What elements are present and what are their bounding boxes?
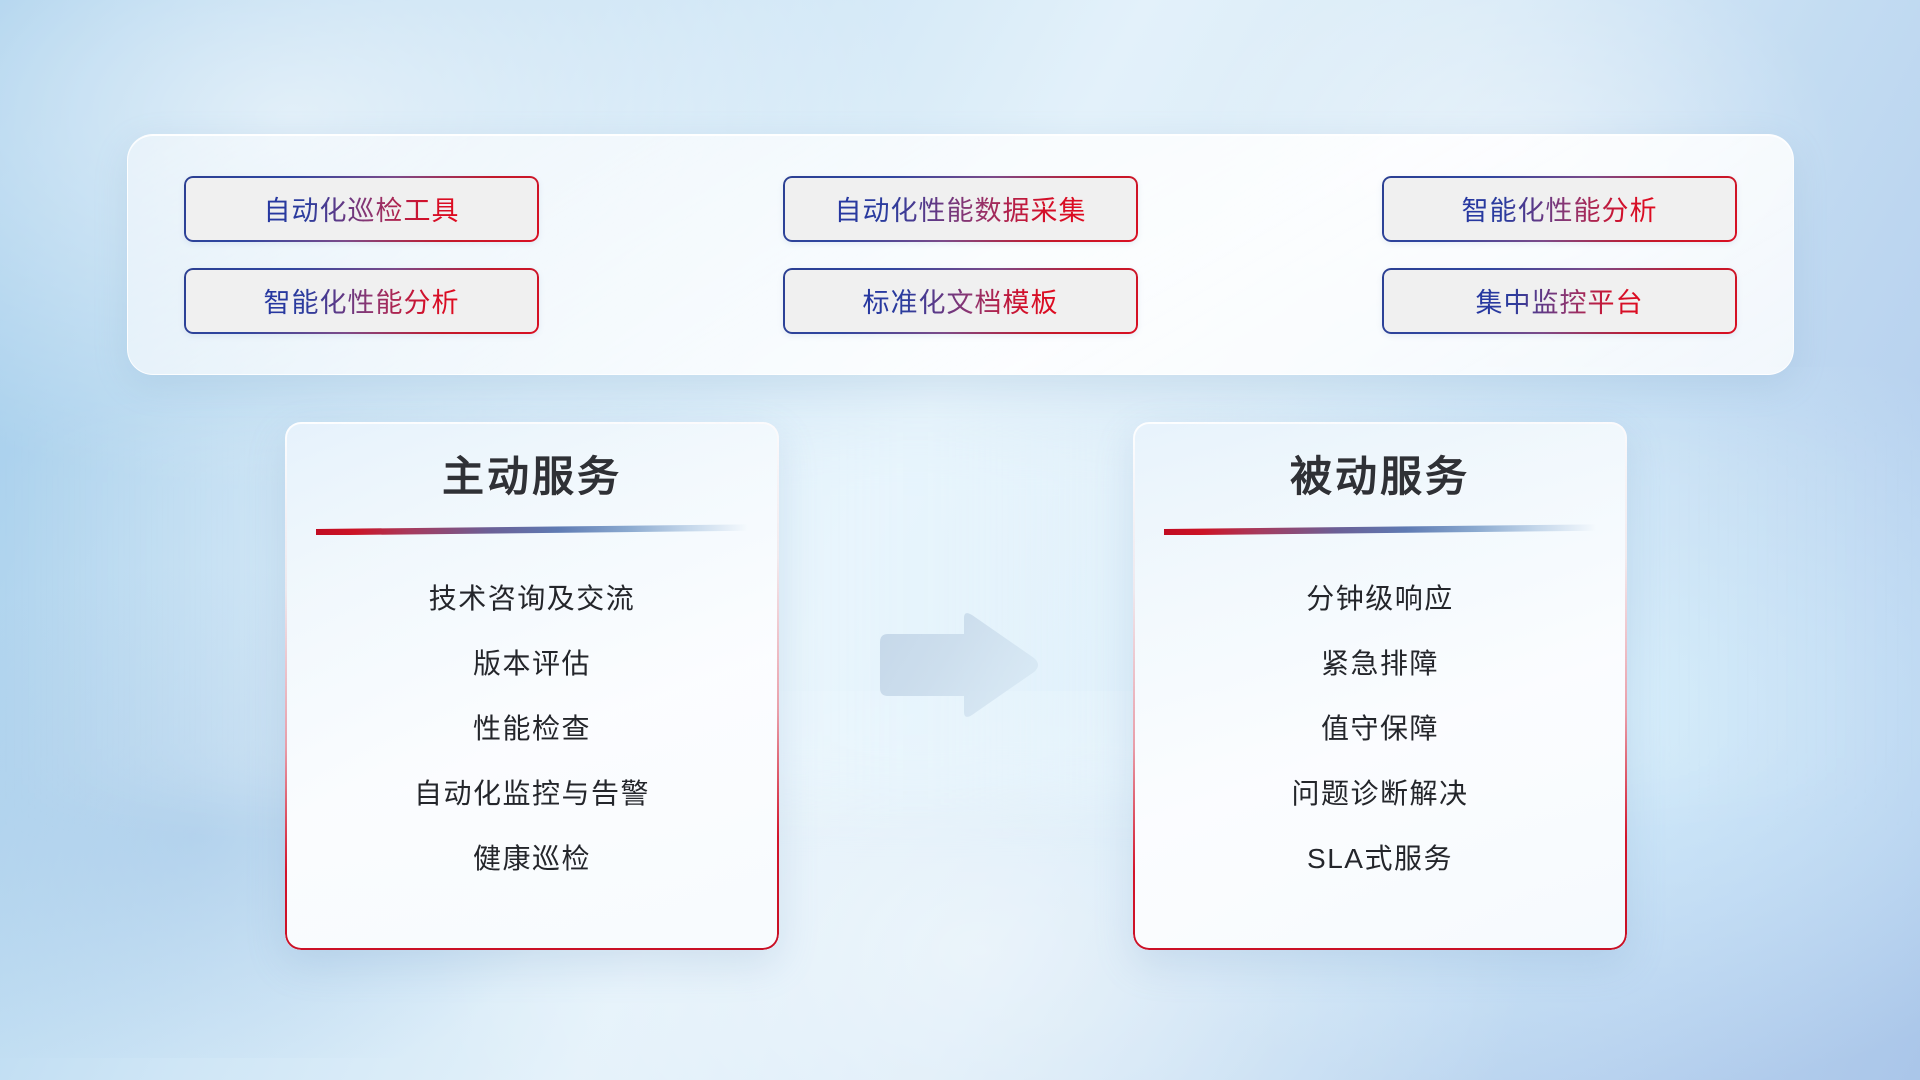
flow-arrow-right-icon (872, 610, 1042, 720)
capability-tag-label: 集中监控平台 (1476, 281, 1644, 320)
list-item[interactable]: SLA式服务 (1307, 841, 1453, 876)
title-underline-bar (316, 524, 748, 535)
list-item[interactable]: 紧急排障 (1321, 646, 1439, 681)
capability-tag-automated-inspection-tool[interactable]: 自动化巡检工具 (184, 176, 539, 242)
service-card-proactive[interactable]: 主动服务 技术咨询及交流 版本评估 性能检查 自动化监控与告警 健康巡检 (285, 422, 779, 950)
list-item[interactable]: 版本评估 (473, 646, 591, 681)
capability-tag-label: 自动化性能数据采集 (835, 189, 1087, 228)
list-item[interactable]: 自动化监控与告警 (414, 776, 650, 811)
tag-row-1: 自动化巡检工具 自动化性能数据采集 智能化性能分析 (184, 176, 1737, 242)
list-item[interactable]: 问题诊断解决 (1291, 776, 1468, 811)
list-item[interactable]: 分钟级响应 (1306, 581, 1454, 616)
list-item[interactable]: 性能检查 (473, 711, 591, 746)
capability-tag-intelligent-performance-analysis-bottom[interactable]: 智能化性能分析 (184, 268, 539, 334)
service-card-title: 被动服务 (1290, 452, 1470, 502)
capability-tag-label: 智能化性能分析 (1462, 189, 1658, 228)
capability-tag-label: 智能化性能分析 (264, 281, 460, 320)
capability-tag-automated-performance-data-collection[interactable]: 自动化性能数据采集 (783, 176, 1138, 242)
capability-tag-label: 自动化巡检工具 (264, 189, 460, 228)
list-item[interactable]: 技术咨询及交流 (429, 581, 636, 616)
service-card-reactive[interactable]: 被动服务 分钟级响应 紧急排障 值守保障 问题诊断解决 SLA式服务 (1133, 422, 1627, 950)
title-underline-bar (1164, 524, 1596, 535)
service-card-body: 被动服务 分钟级响应 紧急排障 值守保障 问题诊断解决 SLA式服务 (1133, 422, 1627, 950)
capability-tag-standardized-doc-template[interactable]: 标准化文档模板 (783, 268, 1138, 334)
slide-stage: 自动化巡检工具 自动化性能数据采集 智能化性能分析 智能化性能分析 标准化文档模… (0, 0, 1920, 1080)
capability-tag-centralized-monitoring-platform[interactable]: 集中监控平台 (1382, 268, 1737, 334)
service-card-title: 主动服务 (442, 452, 622, 502)
capability-tag-panel: 自动化巡检工具 自动化性能数据采集 智能化性能分析 智能化性能分析 标准化文档模… (127, 134, 1794, 375)
tag-row-2: 智能化性能分析 标准化文档模板 集中监控平台 (184, 268, 1737, 334)
service-card-body: 主动服务 技术咨询及交流 版本评估 性能检查 自动化监控与告警 健康巡检 (285, 422, 779, 950)
capability-tag-label: 标准化文档模板 (863, 281, 1059, 320)
service-item-list: 技术咨询及交流 版本评估 性能检查 自动化监控与告警 健康巡检 (321, 581, 743, 876)
capability-tag-intelligent-performance-analysis-top[interactable]: 智能化性能分析 (1382, 176, 1737, 242)
service-item-list: 分钟级响应 紧急排障 值守保障 问题诊断解决 SLA式服务 (1169, 581, 1591, 876)
list-item[interactable]: 值守保障 (1321, 711, 1439, 746)
list-item[interactable]: 健康巡检 (473, 841, 591, 876)
